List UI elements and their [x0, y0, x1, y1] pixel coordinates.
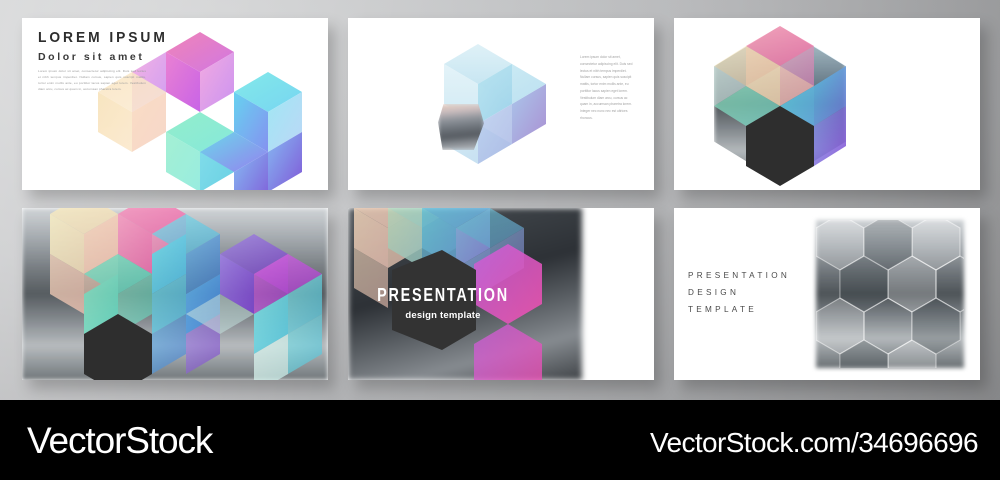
vectorstock-url: VectorStock.com/34696696 [650, 427, 978, 459]
slide-presentation-cover: PRESENTATION design template [348, 208, 654, 380]
slide-5-label-group: PRESENTATION design template [348, 286, 596, 321]
page-title: LOREM IPSUM [38, 30, 168, 45]
cover-title: PRESENTATION [348, 286, 565, 305]
slide-title: LOREM IPSUM Dolor sit amet Lorem ipsum d… [22, 18, 328, 190]
page-subtitle: Dolor sit amet [38, 52, 144, 63]
slide-text-hexagon: Lorem ipsum dolor sit amet, consectetur … [348, 18, 654, 190]
body-text: Lorem ipsum dolor sit amet, consectetur … [580, 54, 634, 122]
slide-3-artwork [674, 18, 980, 190]
slide-presentation-design-template: PRESENTATION DESIGN TEMPLATE [674, 208, 980, 380]
watermark-bar: VectorStock VectorStock.com/34696696 [0, 400, 1000, 480]
slide-hexagon-photo [674, 18, 980, 190]
slide-pattern [22, 208, 328, 380]
vectorstock-logo: VectorStock [27, 420, 212, 462]
slide-6-title-lines: PRESENTATION DESIGN TEMPLATE [688, 268, 790, 318]
cover-subtitle: design template [348, 310, 596, 321]
slide-6-artwork [816, 220, 964, 368]
title-line-3: TEMPLATE [688, 302, 790, 319]
title-line-2: DESIGN [688, 285, 790, 302]
title-line-1: PRESENTATION [688, 268, 790, 285]
body-text: Lorem ipsum dolor sit amet, consectetur … [38, 68, 146, 92]
slide-4-artwork [22, 208, 328, 380]
